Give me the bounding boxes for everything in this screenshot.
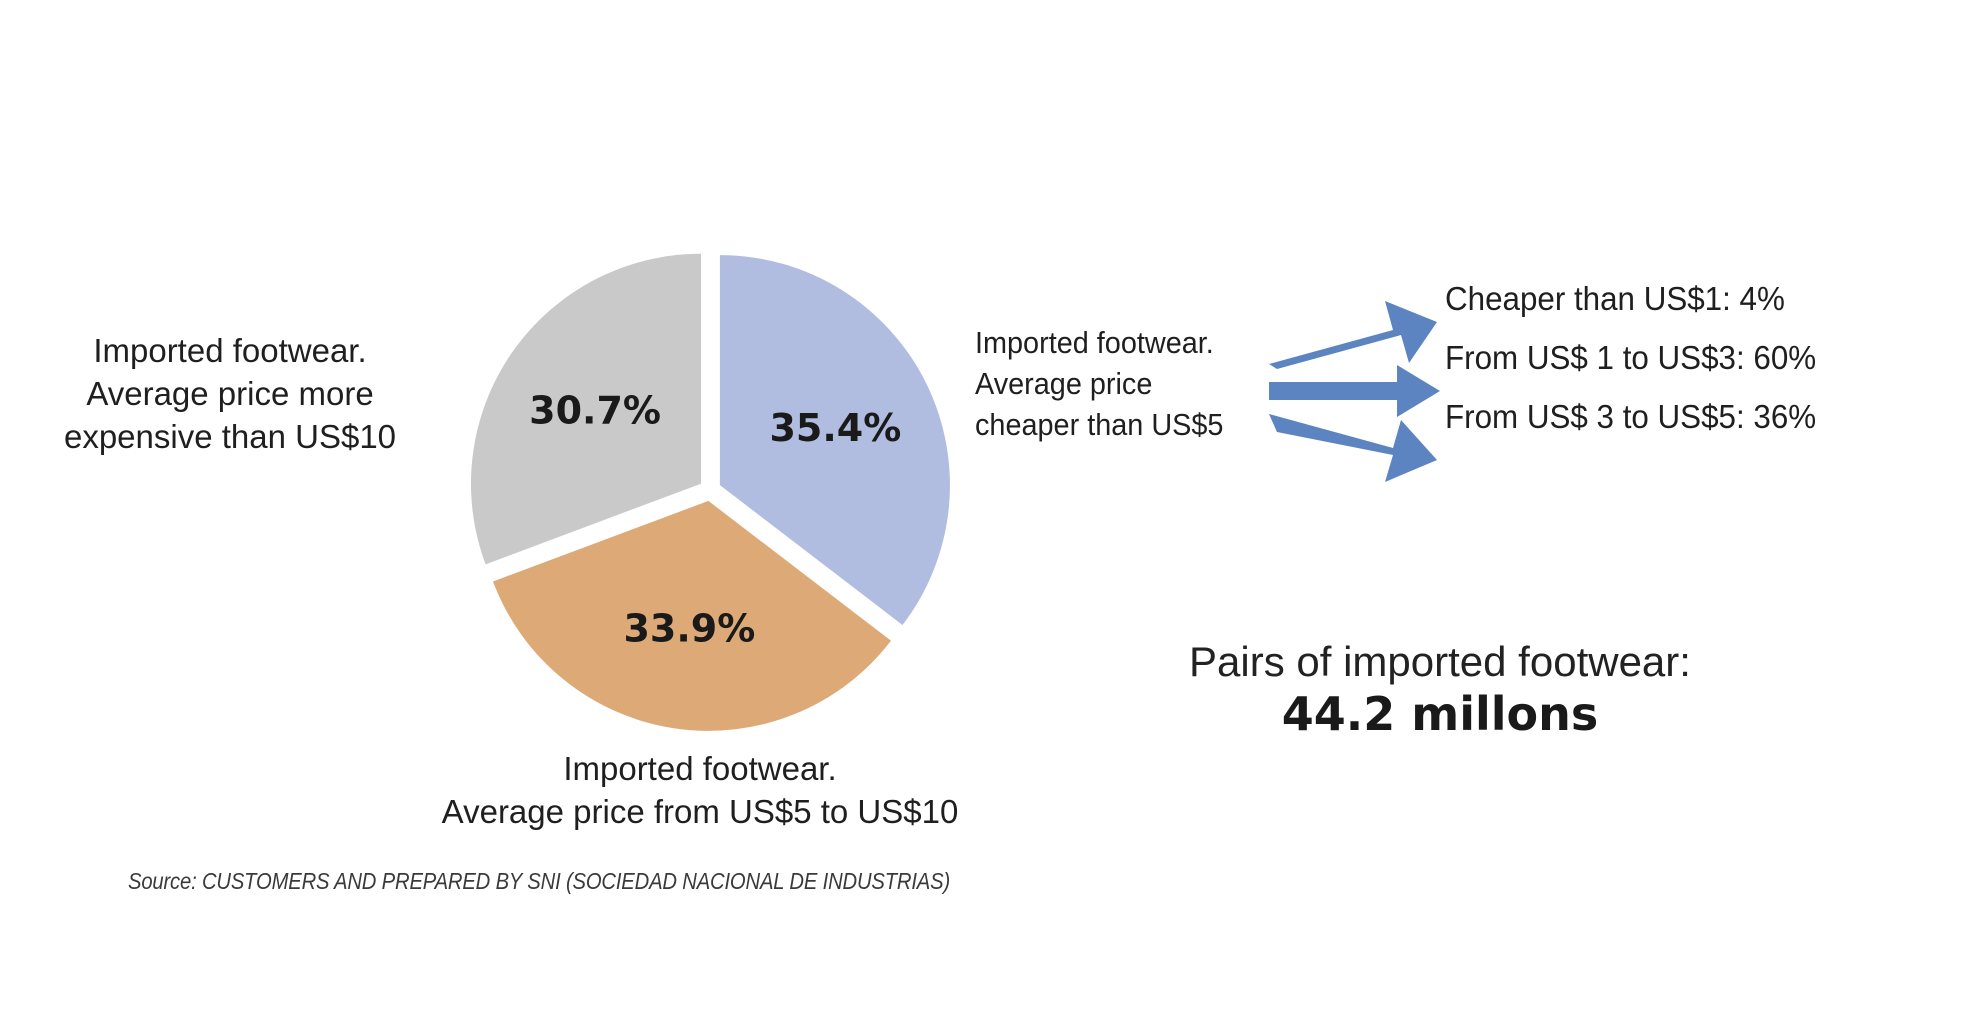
arrow-right-icon	[1269, 365, 1440, 417]
totals-value: 44.2 millons	[1090, 687, 1790, 741]
pie-callout-bottom: Imported footwear. Average price from US…	[330, 748, 1070, 834]
breakdown-item-cheaper-than-us1: Cheaper than US$1: 4%	[1445, 280, 1785, 318]
pie-chart: 35.4% 33.9% 30.7%	[440, 220, 980, 760]
infographic-canvas: 35.4% 33.9% 30.7% Imported footwear. Ave…	[0, 0, 1980, 1021]
pie-slice-label-blue: 35.4%	[769, 406, 901, 450]
totals-label: Pairs of imported footwear:	[1090, 638, 1790, 685]
breakdown-item-us1-to-us3: From US$ 1 to US$3: 60%	[1445, 339, 1816, 377]
pie-chart-svg: 35.4% 33.9% 30.7%	[440, 220, 980, 760]
arrow-up-right-icon	[1269, 301, 1437, 369]
breakdown-source-label: Imported footwear. Average price cheaper…	[975, 322, 1254, 446]
pie-callout-left: Imported footwear. Average price more ex…	[30, 330, 430, 459]
price-breakdown-group: Imported footwear. Average price cheaper…	[975, 322, 1975, 482]
source-note: Source: CUSTOMERS AND PREPARED BY SNI (S…	[128, 868, 950, 895]
pie-slice-label-gray: 30.7%	[529, 388, 661, 432]
totals-group: Pairs of imported footwear: 44.2 millons	[1090, 638, 1790, 741]
arrow-down-right-icon	[1269, 414, 1437, 482]
pie-slice-label-orange: 33.9%	[623, 606, 755, 650]
breakdown-item-us3-to-us5: From US$ 3 to US$5: 36%	[1445, 398, 1816, 436]
